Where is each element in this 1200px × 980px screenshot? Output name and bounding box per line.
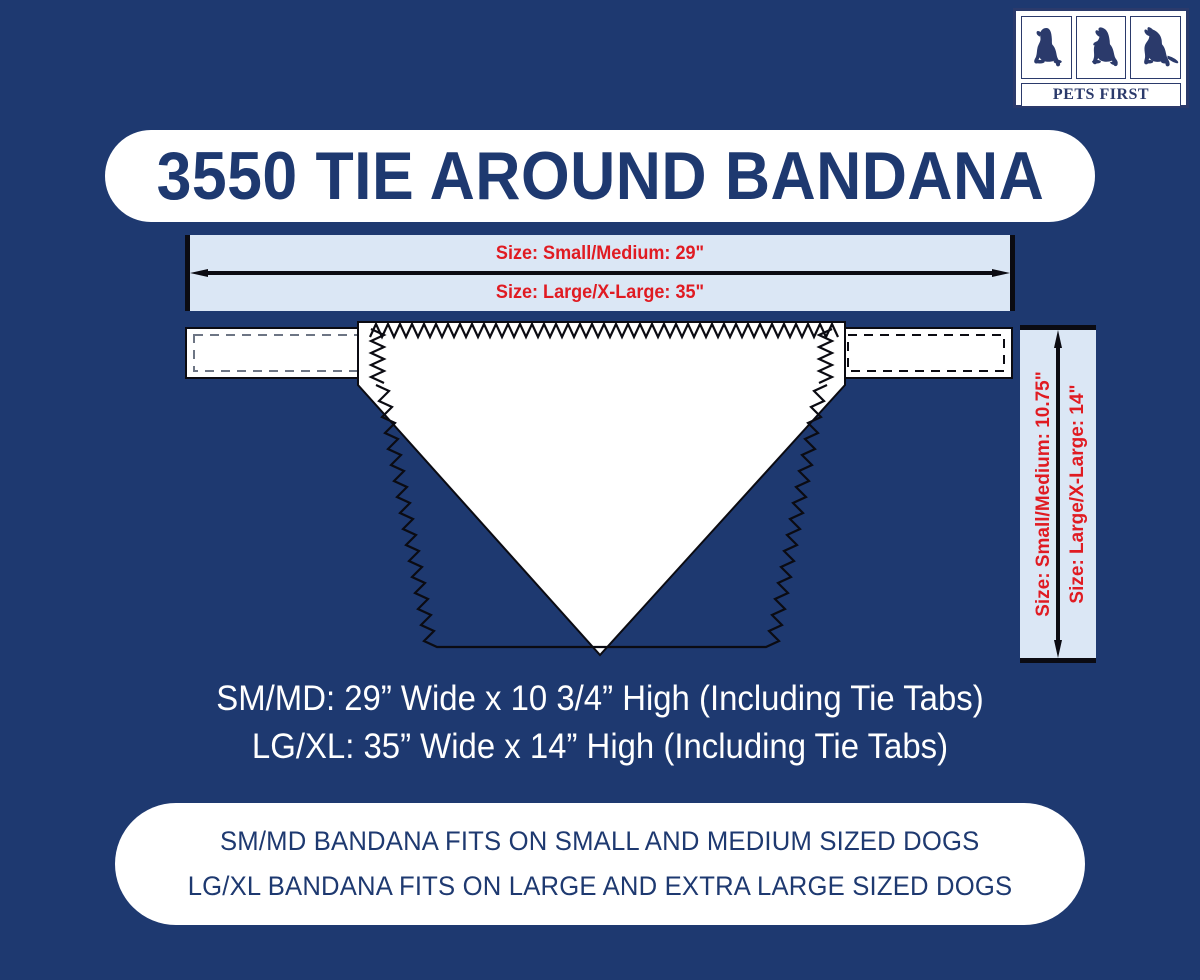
double-headed-horizontal-arrow-icon <box>190 269 1010 277</box>
triangular-bandana-body <box>358 322 845 655</box>
logo-dog-panels <box>1021 16 1181 79</box>
dimension-summary: SM/MD: 29” Wide x 10 3/4” High (Includin… <box>0 675 1200 771</box>
width-label-large-xlarge: Size: Large/X-Large: 35" <box>206 282 995 304</box>
height-dimension-band: Size: Small/Medium: 10.75" Size: Large/X… <box>1020 325 1096 663</box>
spec-sheet-page: PETS FIRST 3550 TIE AROUND BANDANA Size:… <box>0 0 1200 980</box>
logo-wordmark-text: PETS FIRST <box>1053 87 1149 103</box>
dog-silhouette-begging-icon <box>1076 16 1127 79</box>
dog-silhouette-shepherd-icon <box>1130 16 1181 79</box>
width-label-small-medium: Size: Small/Medium: 29" <box>206 243 995 265</box>
fit-note-sm-md: SM/MD BANDANA FITS ON SMALL AND MEDIUM S… <box>220 819 979 864</box>
dimension-line-sm-md: SM/MD: 29” Wide x 10 3/4” High (Includin… <box>36 675 1164 723</box>
page-title: 3550 TIE AROUND BANDANA <box>156 142 1044 210</box>
dimension-line-lg-xl: LG/XL: 35” Wide x 14” High (Including Ti… <box>36 723 1164 771</box>
width-dimension-band: Size: Small/Medium: 29" Size: Large/X-La… <box>185 235 1015 311</box>
height-label-large-xlarge: Size: Large/X-Large: 14" <box>909 325 1200 663</box>
width-tick-right <box>1010 235 1015 311</box>
fit-notes-banner: SM/MD BANDANA FITS ON SMALL AND MEDIUM S… <box>115 803 1085 925</box>
left-tie-tab <box>186 328 386 378</box>
dog-silhouette-sitting-icon <box>1021 16 1072 79</box>
fit-note-lg-xl: LG/XL BANDANA FITS ON LARGE AND EXTRA LA… <box>188 864 1013 909</box>
brand-logo: PETS FIRST <box>1013 8 1189 108</box>
logo-wordmark: PETS FIRST <box>1021 83 1181 107</box>
title-banner: 3550 TIE AROUND BANDANA <box>105 130 1095 222</box>
